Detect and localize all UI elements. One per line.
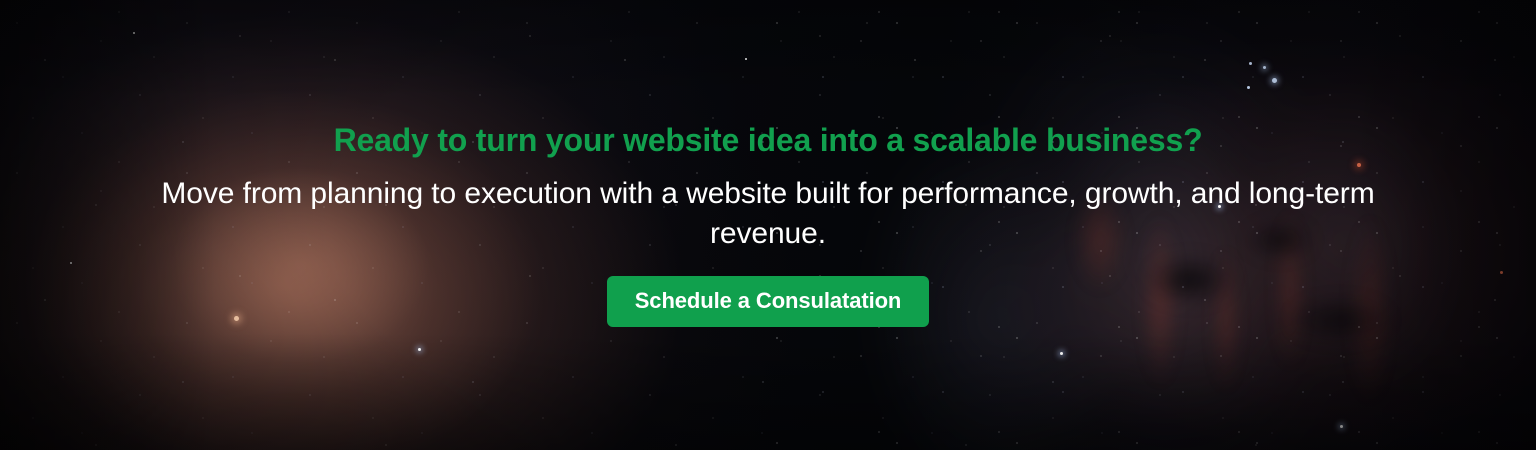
schedule-consultation-button[interactable]: Schedule a Consulatation xyxy=(607,276,930,327)
cta-subtext: Move from planning to execution with a w… xyxy=(148,174,1388,254)
cta-content: Ready to turn your website idea into a s… xyxy=(0,0,1536,450)
cta-banner: Ready to turn your website idea into a s… xyxy=(0,0,1536,450)
cta-heading: Ready to turn your website idea into a s… xyxy=(334,122,1203,160)
